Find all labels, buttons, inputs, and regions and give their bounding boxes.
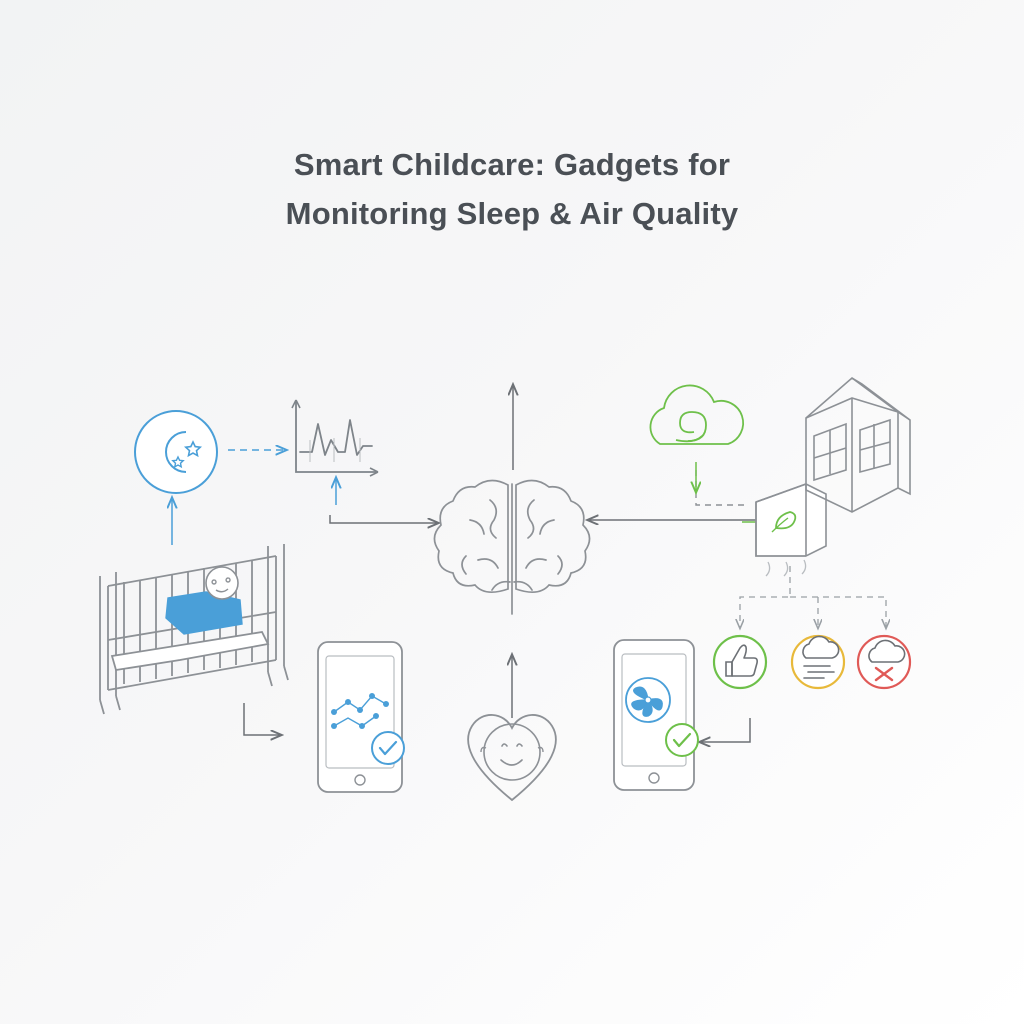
phone-fan-icon (614, 640, 694, 790)
infographic-canvas: Smart Childcare: Gadgets for Monitoring … (0, 0, 1024, 1024)
node-phone-sleep-data[interactable] (318, 642, 404, 792)
node-baby-crib[interactable] (100, 544, 288, 714)
node-ai-brain[interactable] (434, 480, 589, 614)
connector-purifier-to-status-row (740, 566, 886, 628)
brain-icon (434, 480, 589, 614)
status-moderate[interactable] (792, 636, 844, 688)
status-good[interactable] (714, 636, 766, 688)
crib-icon (100, 544, 288, 714)
node-phone-air-purifier[interactable] (614, 640, 698, 790)
node-air-swirl-cloud[interactable] (650, 385, 743, 444)
phone-sleep-check-badge (372, 732, 404, 764)
waveform-chart-icon (292, 400, 378, 476)
phone-chart-icon (318, 642, 402, 792)
status-bad[interactable] (858, 636, 910, 688)
connector-purifier-to-brain (588, 470, 756, 520)
heart-face-icon (468, 715, 556, 800)
connector-crib-to-phone-sleep (244, 703, 281, 735)
phone-air-check-badge (666, 724, 698, 756)
node-air-purifier-leaf[interactable] (756, 484, 826, 576)
purifier-leaf-icon (756, 484, 826, 576)
connector-chart-to-brain (330, 478, 438, 523)
node-sleep-waveform-chart[interactable] (292, 400, 378, 476)
diagram-svg (0, 0, 1024, 1024)
node-heart-baby-face[interactable] (468, 715, 556, 800)
connector-phone-air-to-heart (700, 718, 750, 742)
cloud-swirl-icon (650, 385, 743, 444)
node-moon-stars-badge[interactable] (135, 411, 217, 493)
